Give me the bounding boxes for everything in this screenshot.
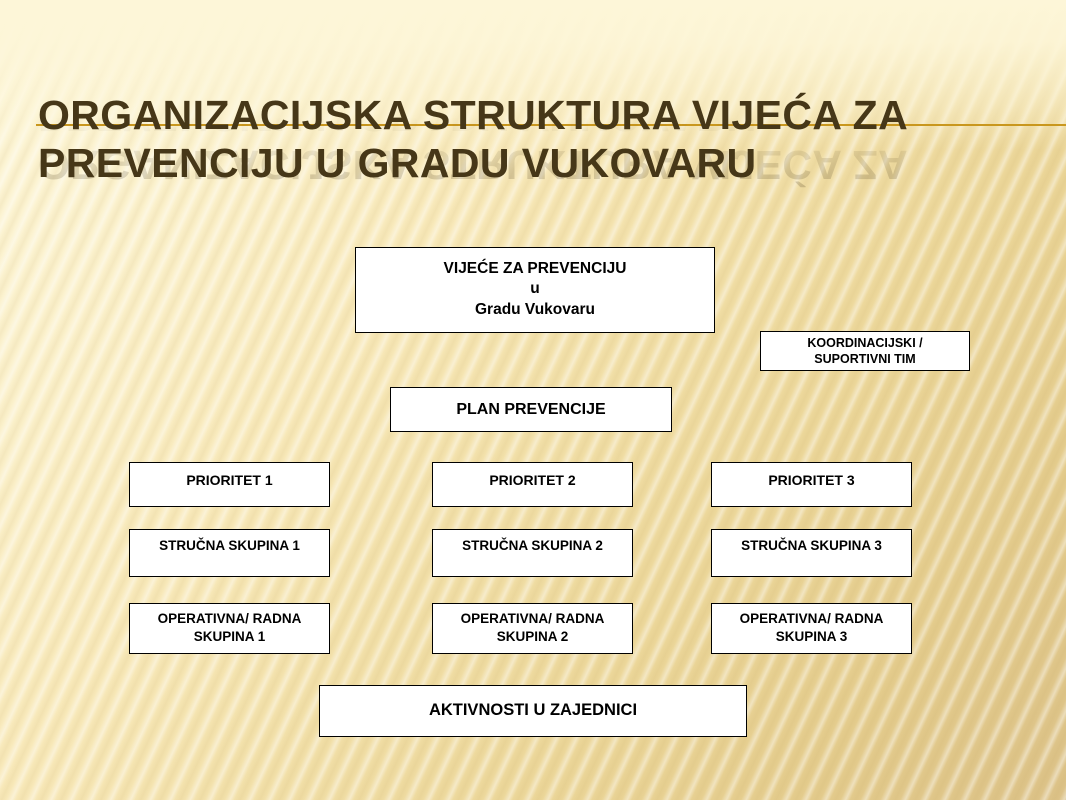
org-node-operative-group-1: OPERATIVNA/ RADNA SKUPINA 1 xyxy=(129,603,330,654)
org-node-priority-2: PRIORITET 2 xyxy=(432,462,633,507)
org-node-operative-group-3: OPERATIVNA/ RADNA SKUPINA 3 xyxy=(711,603,912,654)
org-node-expert-group-1-label: STRUČNA SKUPINA 1 xyxy=(130,537,329,555)
org-node-prevention-plan-label: PLAN PREVENCIJE xyxy=(391,399,671,420)
org-node-priority-3: PRIORITET 3 xyxy=(711,462,912,507)
org-node-expert-group-3: STRUČNA SKUPINA 3 xyxy=(711,529,912,577)
org-node-community-activities-label: AKTIVNOSTI U ZAJEDNICI xyxy=(320,700,746,722)
org-node-coordination-team-label: KOORDINACIJSKI / SUPORTIVNI TIM xyxy=(761,335,969,368)
org-node-expert-group-1: STRUČNA SKUPINA 1 xyxy=(129,529,330,577)
org-node-operative-group-3-label: OPERATIVNA/ RADNA SKUPINA 3 xyxy=(712,610,911,646)
org-node-expert-group-2-label: STRUČNA SKUPINA 2 xyxy=(433,537,632,555)
org-node-expert-group-2: STRUČNA SKUPINA 2 xyxy=(432,529,633,577)
org-node-coordination-team: KOORDINACIJSKI / SUPORTIVNI TIM xyxy=(760,331,970,371)
org-node-priority-1: PRIORITET 1 xyxy=(129,462,330,507)
slide-title-block: Organizacijska struktura Vijeća za preve… xyxy=(38,92,938,188)
org-node-community-activities: AKTIVNOSTI U ZAJEDNICI xyxy=(319,685,747,737)
org-node-priority-3-label: PRIORITET 3 xyxy=(712,471,911,489)
org-node-priority-1-label: PRIORITET 1 xyxy=(130,471,329,489)
org-node-priority-2-label: PRIORITET 2 xyxy=(433,471,632,489)
org-node-operative-group-2: OPERATIVNA/ RADNA SKUPINA 2 xyxy=(432,603,633,654)
org-node-operative-group-2-label: OPERATIVNA/ RADNA SKUPINA 2 xyxy=(433,610,632,646)
org-node-expert-group-3-label: STRUČNA SKUPINA 3 xyxy=(712,537,911,555)
org-node-operative-group-1-label: OPERATIVNA/ RADNA SKUPINA 1 xyxy=(130,610,329,646)
org-node-prevention-plan: PLAN PREVENCIJE xyxy=(390,387,672,432)
org-node-council: VIJEĆE ZA PREVENCIJU u Gradu Vukovaru xyxy=(355,247,715,333)
org-node-council-label: VIJEĆE ZA PREVENCIJU u Gradu Vukovaru xyxy=(356,259,714,320)
slide-title: Organizacijska struktura Vijeća za preve… xyxy=(38,92,938,188)
presentation-slide: Organizacijska struktura Vijeća za preve… xyxy=(0,0,1066,800)
